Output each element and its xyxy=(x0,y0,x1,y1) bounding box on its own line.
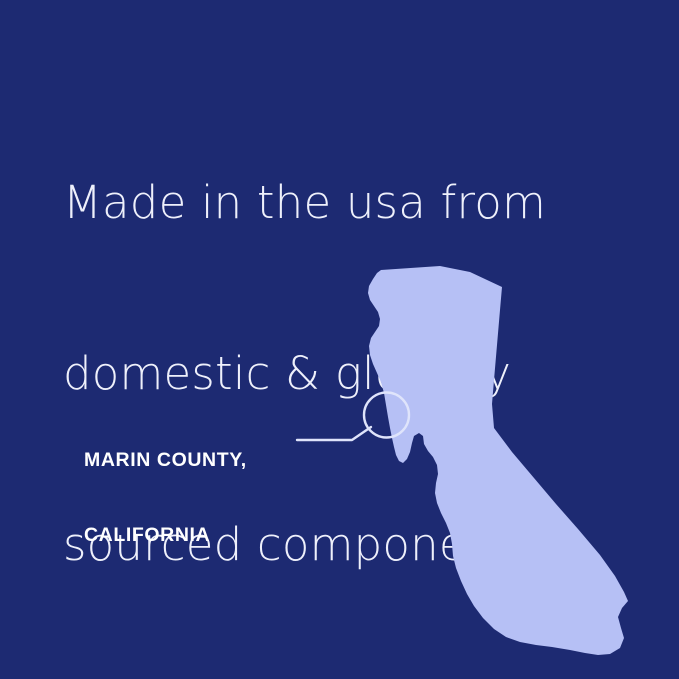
callout-label-line-1: MARIN COUNTY, xyxy=(84,448,247,473)
callout-label-line-2: CALIFORNIA xyxy=(84,523,247,548)
california-silhouette xyxy=(368,266,628,655)
callout-label: MARIN COUNTY, CALIFORNIA xyxy=(84,398,247,598)
made-in-usa-graphic: Made in the usa from domestic & globally… xyxy=(0,0,679,679)
callout-leader-line xyxy=(297,427,371,440)
